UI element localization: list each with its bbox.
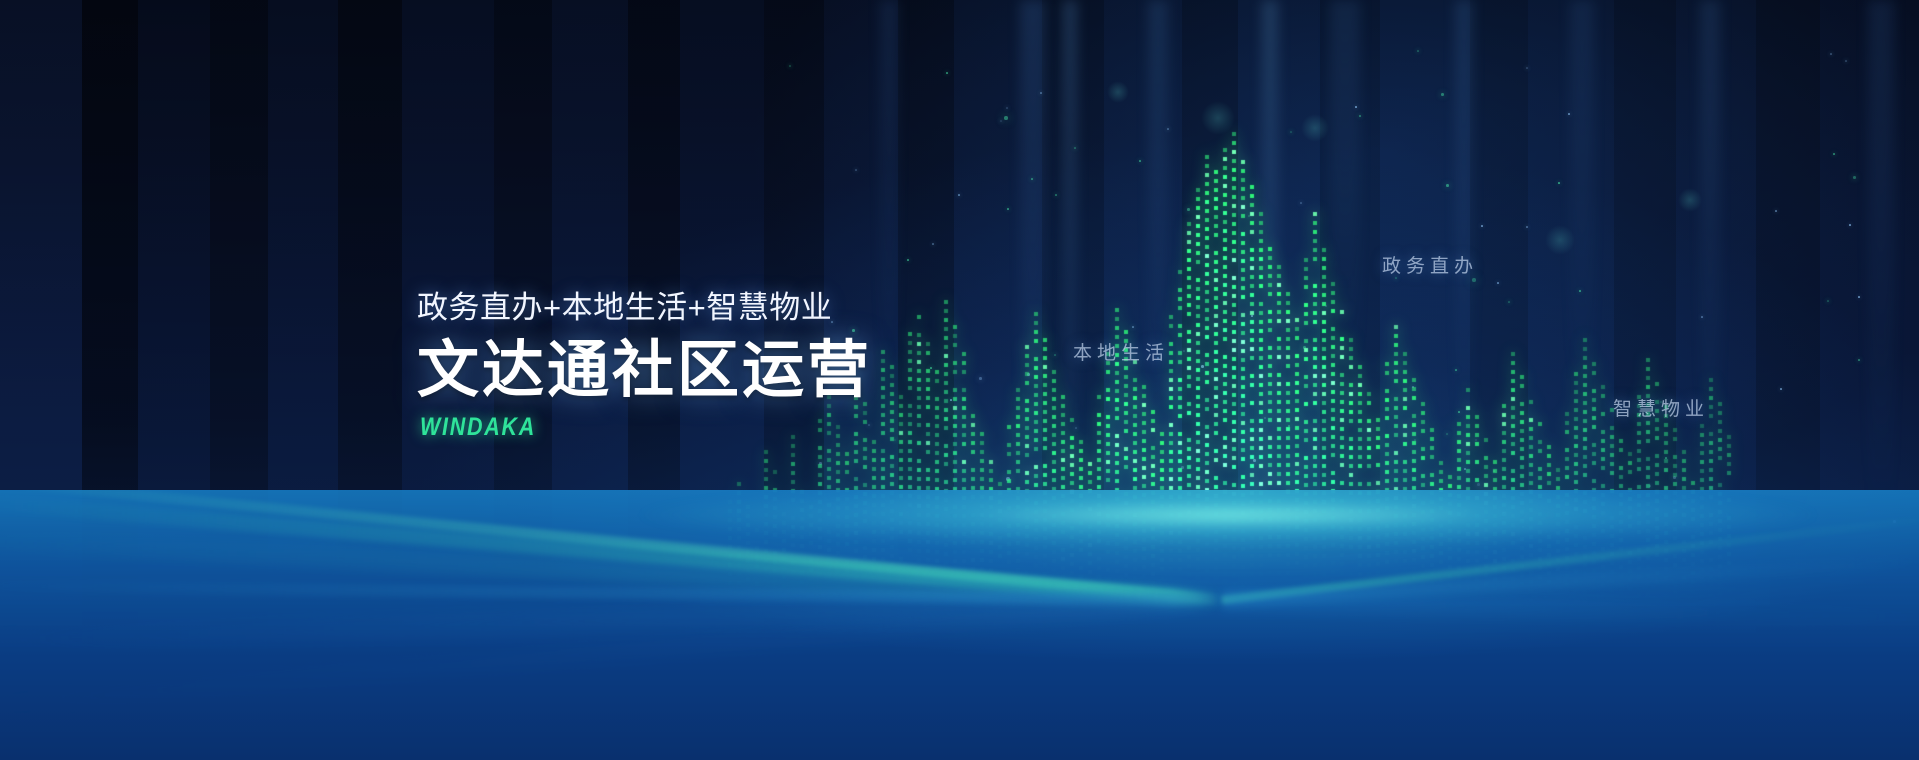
background-stripe [268, 0, 338, 760]
sparkle-dot [1665, 457, 1667, 459]
sparkle-dot [1183, 350, 1185, 352]
sparkle-dot [1649, 485, 1651, 487]
hero-copy-block: 政务直办+本地生活+智慧物业 文达通社区运营 WINDAKA [417, 289, 872, 442]
sparkle-dot [1075, 427, 1077, 429]
background-stripe [1182, 0, 1238, 760]
sparkle-dot [1441, 93, 1444, 96]
sparkle-dot [1458, 411, 1460, 413]
sparkle-dot [1248, 215, 1250, 217]
ground-ray [0, 591, 1223, 716]
ground-ray [0, 529, 1223, 611]
background-stripe [1042, 0, 1104, 760]
ground-ray [0, 490, 1222, 605]
background-stripe [1470, 0, 1528, 760]
ground-ray [0, 580, 1222, 606]
sparkle-dot [1359, 115, 1361, 117]
sparkle-dot [958, 194, 960, 196]
sparkle-dot [1040, 92, 1042, 94]
background-stripe [1238, 0, 1320, 760]
glow-bloom [1201, 101, 1235, 135]
background-stripe [1528, 0, 1614, 760]
glow-bloom [1107, 81, 1129, 103]
sparkle-dot [1325, 305, 1327, 307]
sparkle-dot [930, 367, 932, 369]
background-stripe [138, 0, 210, 760]
light-beam [1262, 0, 1278, 500]
skyline-dot-chart [0, 0, 1919, 760]
sparkle-dot [979, 377, 982, 380]
sparkle-dot [1251, 315, 1253, 317]
sparkle-dot [819, 462, 822, 465]
sparkle-dot [1017, 491, 1019, 493]
background-stripe [1820, 0, 1919, 760]
sparkle-dot [1264, 417, 1266, 419]
ground-ray [0, 493, 1223, 608]
background-stripe [1614, 0, 1676, 760]
hero-subtitle: 政务直办+本地生活+智慧物业 [417, 289, 872, 326]
sparkle-dot [1410, 540, 1412, 542]
sparkle-dot [1074, 147, 1076, 149]
sparkle-dot [1845, 60, 1847, 62]
sparkle-dot [1526, 226, 1528, 228]
sparkle-dot [1701, 316, 1703, 318]
sparkle-dot [1004, 116, 1008, 120]
sparkle-dot [1830, 53, 1832, 55]
glow-bloom [1678, 188, 1702, 212]
sparkle-dot [1858, 296, 1860, 298]
light-beam [1570, 0, 1594, 400]
light-beam [880, 0, 898, 400]
sparkle-dot [1446, 184, 1449, 187]
sparkle-dot [1253, 459, 1256, 462]
sparkle-dot [1300, 202, 1302, 204]
sparkle-dot [1290, 131, 1292, 133]
sparkle-dot [1775, 210, 1777, 212]
sparkle-dot [1355, 106, 1357, 108]
ground-ray [0, 587, 1222, 654]
glow-bloom [1301, 114, 1329, 142]
sparkle-dot [1493, 470, 1495, 472]
sparkle-dot [1187, 208, 1190, 211]
light-beam [1020, 0, 1046, 470]
sparkle-dot [1446, 433, 1448, 435]
sparkle-dot [1472, 278, 1476, 282]
sparkle-dot [1464, 468, 1466, 470]
sparkle-dot [1579, 290, 1581, 292]
background-stripe [1756, 0, 1820, 760]
sparkle-dot [1303, 346, 1306, 349]
sparkle-dot [1055, 194, 1057, 196]
sparkle-dot [1201, 365, 1204, 368]
sparkle-dot [1417, 50, 1419, 52]
background-stripe [338, 0, 402, 760]
sparkle-dot [1155, 539, 1157, 541]
sparkle-dot [1849, 224, 1851, 226]
sparkle-dot [1000, 120, 1002, 122]
city-label-government: 政务直办 [1382, 251, 1478, 278]
sparkle-dot [1558, 182, 1560, 184]
sparkle-dot [1526, 67, 1528, 69]
sparkle-dot [1288, 425, 1290, 427]
light-beam [1330, 0, 1360, 380]
sparkle-dot [1780, 388, 1782, 390]
sparkle-dot [1031, 178, 1033, 180]
background-stripe [1320, 0, 1380, 760]
sparkle-dot [907, 259, 909, 261]
sparkle-dot [1568, 113, 1570, 115]
sparkle-dot [894, 439, 896, 441]
ground-ray-right [1222, 590, 1919, 629]
sparkle-dot [1853, 176, 1856, 179]
sparkle-dot [1412, 386, 1414, 388]
sparkle-dot [789, 65, 791, 67]
background-stripe [898, 0, 954, 760]
ground-floor [0, 490, 1919, 760]
horizon-glow [0, 490, 1919, 550]
background-stripe [0, 0, 82, 760]
sparkle-dot [1475, 439, 1477, 441]
sparkle-dot [1446, 510, 1448, 512]
light-beam [1868, 0, 1894, 520]
sparkle-dot [1006, 477, 1010, 481]
sparkle-dot [1006, 107, 1008, 109]
background-stripe [1380, 0, 1470, 760]
sparkle-dot [1858, 359, 1860, 361]
background-stripe [210, 0, 268, 760]
sparkle-dot [1497, 282, 1499, 284]
sparkle-dot [1464, 509, 1467, 512]
sparkle-dot [1181, 466, 1184, 469]
sparkle-dot [1132, 326, 1134, 328]
sparkle-dot [1673, 476, 1676, 479]
sparkle-dot [1508, 301, 1510, 303]
sparkle-dot [1167, 128, 1169, 130]
light-beam [1455, 0, 1473, 440]
sparkle-dot [1414, 439, 1416, 441]
sparkle-dot [1139, 160, 1141, 162]
perspective-ground [0, 490, 1919, 760]
light-beam [1148, 0, 1168, 430]
sparkle-dot [1481, 225, 1483, 227]
sparkle-dot [1054, 354, 1056, 356]
background-stripe [1676, 0, 1756, 760]
sparkle-dot [855, 169, 857, 171]
city-label-local-life: 本地生活 [1073, 338, 1169, 365]
sparkle-dot [1522, 526, 1524, 528]
hero-banner: 政务直办 本地生活 智慧物业 政务直办+本地生活+智慧物业 文达通社区运营 WI… [0, 0, 1919, 760]
background-stripe [1104, 0, 1182, 760]
ground-ray-right [1222, 511, 1919, 604]
sparkle-dot [1827, 300, 1829, 302]
sparkle-dot [946, 72, 948, 74]
sparkle-dot [950, 399, 952, 401]
city-label-smart-property: 智慧物业 [1613, 394, 1709, 421]
light-beam [1063, 0, 1077, 520]
sparkle-dot [932, 243, 934, 245]
brand-wordmark: WINDAKA [420, 413, 809, 442]
hero-headline: 文达通社区运营 [417, 338, 872, 403]
background-stripes [0, 0, 1919, 760]
sparkle-dot [1027, 373, 1030, 376]
sparkle-dot [1477, 483, 1480, 486]
sparkle-dot [1412, 459, 1414, 461]
ground-ray-right [1222, 553, 1919, 607]
background-stripe [82, 0, 138, 760]
sparkle-dot [1455, 369, 1457, 371]
sparkle-dot [1893, 520, 1896, 523]
background-stripe [954, 0, 1042, 760]
sparkle-dot [1007, 208, 1009, 210]
glow-bloom [1545, 225, 1575, 255]
sparkle-dot [1833, 153, 1835, 155]
